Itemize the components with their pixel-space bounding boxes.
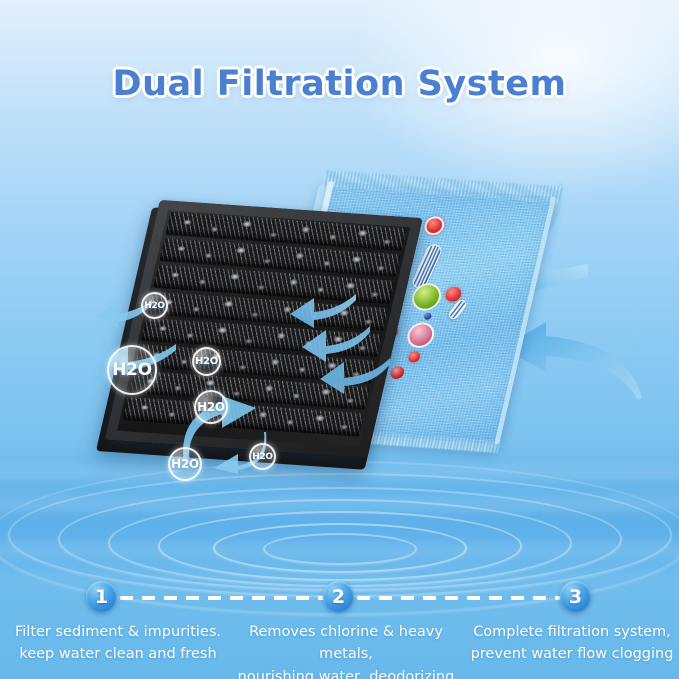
h2o-bubble-label: H2O <box>144 301 165 311</box>
step-number-3: 3 <box>560 581 591 612</box>
h2o-bubble: H2O <box>107 345 157 395</box>
step-number-2: 2 <box>323 581 354 612</box>
step-caption-3: Complete filtration system, prevent wate… <box>466 621 678 666</box>
h2o-bubble-label: H2O <box>112 360 152 380</box>
step-connector-line <box>357 596 560 600</box>
product-illustration: H2O H2O H2O H2O H2O H2O <box>0 0 679 520</box>
h2o-bubble: H2O <box>141 292 168 319</box>
step-caption-1: Filter sediment & impurities. keep water… <box>8 621 228 666</box>
h2o-bubble-label: H2O <box>171 457 199 471</box>
infographic-canvas: Dual Filtration System <box>0 0 679 679</box>
h2o-bubble: H2O <box>194 390 228 424</box>
h2o-bubble: H2O <box>249 443 276 470</box>
step-caption-2: Removes chlorine & heavy metals, nourish… <box>226 621 466 679</box>
h2o-bubble-label: H2O <box>252 452 273 462</box>
step-connector-line <box>120 596 325 600</box>
step-number-1: 1 <box>86 581 117 612</box>
internal-flow-arrow-icon <box>318 352 392 396</box>
h2o-bubble-label: H2O <box>197 400 225 414</box>
steps-strip: 1 2 3 Filter sediment & impurities. keep… <box>0 555 679 679</box>
activated-carbon-filter <box>103 200 424 464</box>
h2o-bubble-label: H2O <box>195 356 218 367</box>
h2o-bubble: H2O <box>192 347 221 376</box>
h2o-bubble: H2O <box>168 447 202 481</box>
